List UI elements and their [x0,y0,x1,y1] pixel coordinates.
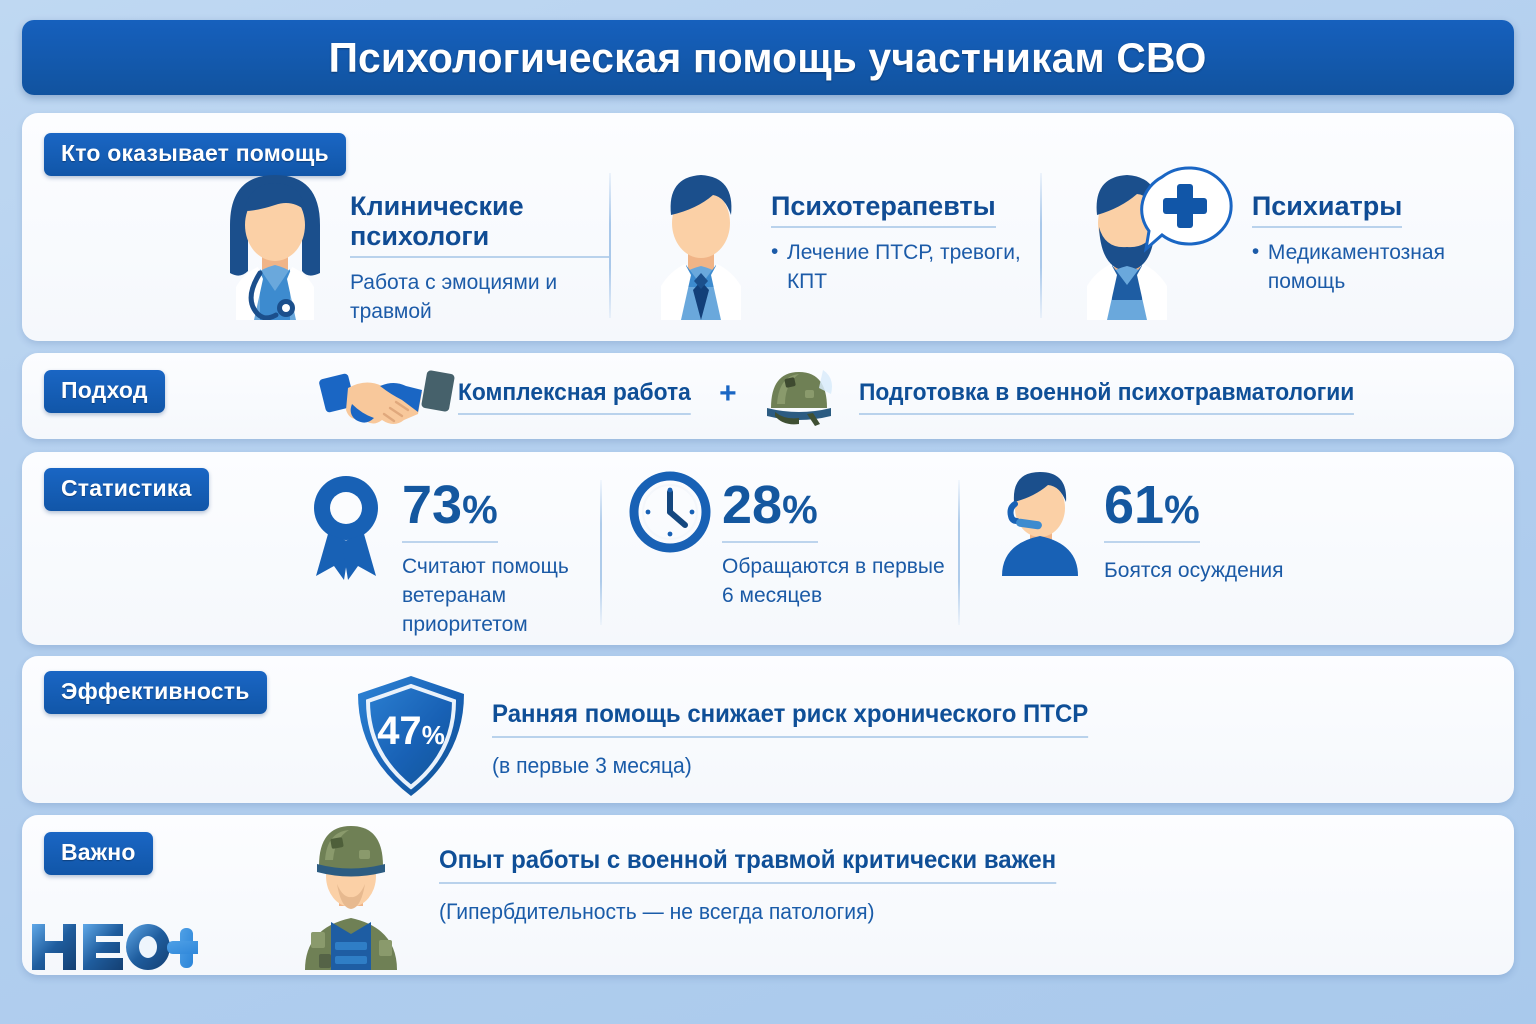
stat-value: 73% [402,478,498,543]
badge-statistics: Статистика [44,468,209,511]
important-title: Опыт работы с военной травмой критически… [439,846,1056,884]
who-description: Лечение ПТСР, тревоги, КПТ [771,239,1027,296]
who-column-psychotherapists: Психотерапевты Лечение ПТСР, тревоги, КП… [609,165,1040,330]
page-title: Психологическая помощь участникам СВО [329,34,1207,82]
effectiveness-title: Ранняя помощь снижает риск хронического … [492,700,1088,738]
stat-item-fear-of-judgement: 61% Боятся осуждения [958,470,1366,635]
important-text-block: Опыт работы с военной травмой критически… [439,822,1082,925]
approach-left-text: Комплексная работа [458,379,691,415]
who-column-clinical-psychologists: Клинические психологи Работа с эмоциями … [200,165,609,330]
who-column-psychiatrists: Психиатры Медикаментозная помощь [1040,165,1500,330]
effectiveness-subtitle: (в первые 3 месяца) [492,753,1088,779]
handshake-icon [318,362,458,433]
who-title: Психотерапевты [771,191,996,228]
infographic-page: Психологическая помощь участникам СВО Кт… [0,0,1536,1024]
effectiveness-row: 47% Ранняя помощь снижает риск хроническ… [352,672,1113,805]
stat-label: Боятся осуждения [1104,557,1284,586]
who-text-block: Клинические психологи Работа с эмоциями … [350,165,609,326]
stat-value: 28% [722,478,818,543]
female-psychologist-avatar-icon [200,165,350,330]
who-title: Клинические психологи [350,191,609,258]
badge-approach: Подход [44,370,165,413]
who-text-block: Психиатры Медикаментозная помощь [1252,165,1500,296]
column-divider [609,173,611,318]
badge-effectiveness: Эффективность [44,671,267,714]
page-header: Психологическая помощь участникам СВО [22,20,1514,95]
stat-divider [600,480,602,625]
approach-right-text: Подготовка в военной психотравматологии [859,379,1354,415]
award-ribbon-icon [300,470,392,595]
clock-icon [628,470,712,559]
male-psychotherapist-avatar-icon [631,165,771,330]
soldier-avatar-icon [285,822,417,977]
neo-plus-logo [28,918,198,978]
statistics-row: 73% Считают помощь ветеранам приоритетом [300,470,1480,635]
who-description: Медикаментозная помощь [1252,239,1500,296]
who-description: Работа с эмоциями и травмой [350,269,590,326]
approach-row: Комплексная работа + Подготовка в военно… [318,362,1380,432]
military-helmet-icon [751,364,847,431]
stat-item-priority: 73% Считают помощь ветеранам приоритетом [300,470,600,635]
bearded-psychiatrist-avatar-icon [1062,165,1252,330]
important-row: Опыт работы с военной травмой критически… [285,822,1082,977]
who-title: Психиатры [1252,191,1402,228]
who-helps-columns: Клинические психологи Работа с эмоциями … [200,165,1500,330]
stat-item-first-six-months: 28% Обращаются в первые 6 месяцев [600,470,958,635]
stat-divider [958,480,960,625]
who-text-block: Психотерапевты Лечение ПТСР, тревоги, КП… [771,165,1027,296]
important-subtitle: (Гипербдительность — не всегда патология… [439,899,1056,925]
stat-text-block: 28% Обращаются в первые 6 месяцев [722,470,952,611]
plus-icon: + [719,377,737,411]
stat-text-block: 73% Считают помощь ветеранам приоритетом [402,470,600,640]
badge-important: Важно [44,832,153,875]
column-divider [1040,173,1042,318]
stat-label: Считают помощь ветеранам приоритетом [402,553,600,640]
effectiveness-text-block: Ранняя помощь снижает риск хронического … [492,672,1113,779]
stat-value: 61% [1104,478,1200,543]
shield-icon: 47% [352,672,470,805]
stat-label: Обращаются в первые 6 месяцев [722,553,952,611]
stat-text-block: 61% Боятся осуждения [1104,470,1284,586]
person-headset-icon [986,470,1094,585]
